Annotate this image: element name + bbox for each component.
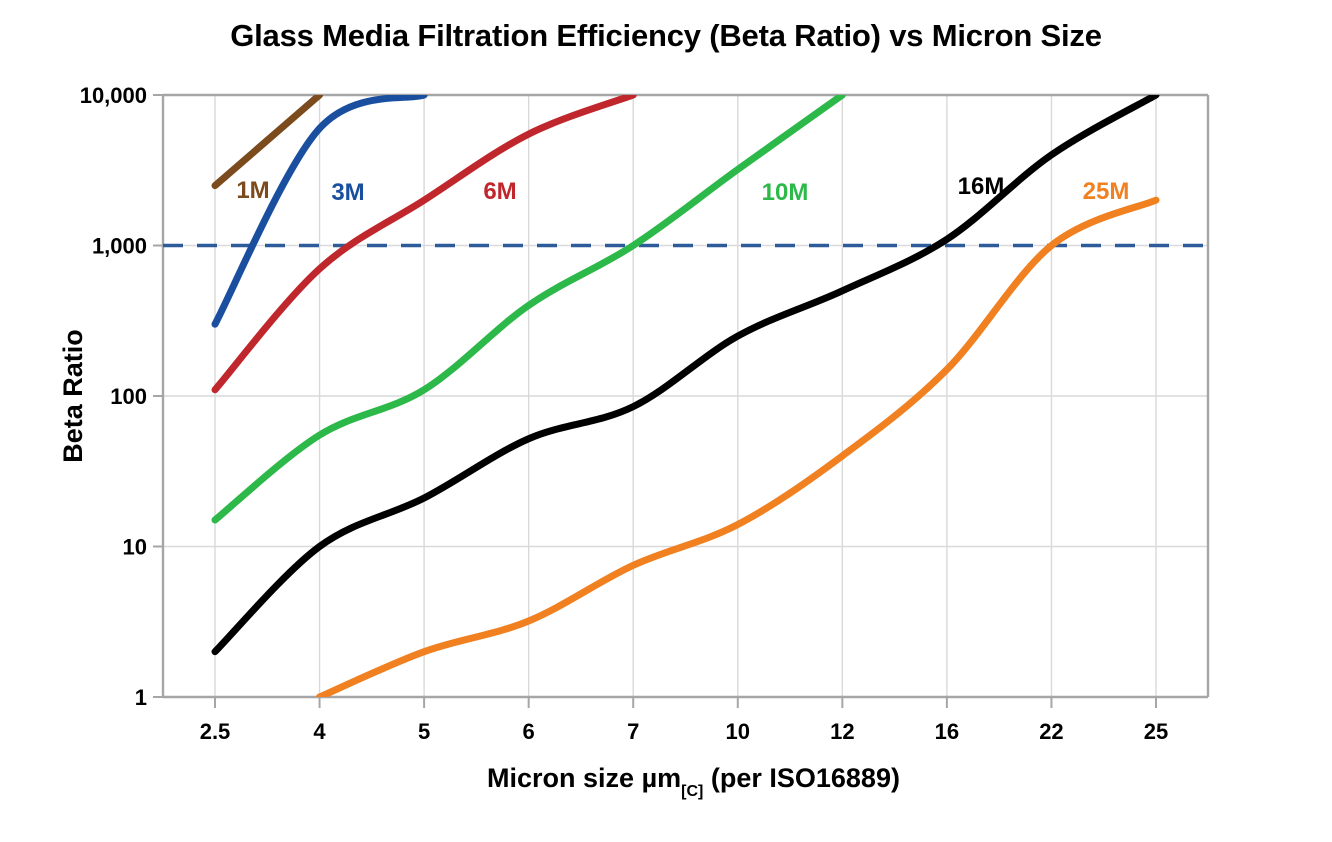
beta-ratio-line-chart: 1101001,00010,000 2.545671012162225 1M3M… [0,0,1332,842]
y-tick-label: 1,000 [92,234,147,259]
x-axis-ticks: 2.545671012162225 [200,697,1169,744]
series-label-3m: 3M [331,179,364,206]
x-axis-title: Micron size µm[C] (per ISO16889) [487,763,900,800]
y-tick-label: 1 [135,685,147,710]
axis-titles-group: Beta RatioMicron size µm[C] (per ISO1688… [58,329,900,800]
series-curve-1m [215,95,320,186]
x-tick-label: 5 [418,719,430,744]
series-label-25m: 25M [1083,178,1130,205]
y-axis-ticks: 1101001,00010,000 [80,83,163,710]
x-tick-label: 10 [726,719,750,744]
x-tick-label: 6 [523,719,535,744]
gridlines-group [163,95,1208,697]
x-tick-label: 16 [935,719,959,744]
x-tick-label: 22 [1039,719,1063,744]
y-tick-label: 10 [123,535,147,560]
x-tick-label: 25 [1144,719,1168,744]
x-axis-title-main: Micron size µm [487,763,681,793]
x-axis-title-subscript: [C] [681,783,703,800]
y-tick-label: 100 [110,384,147,409]
y-axis-title: Beta Ratio [58,329,88,463]
x-tick-label: 12 [830,719,854,744]
chart-page: Glass Media Filtration Efficiency (Beta … [0,0,1332,842]
y-tick-label: 10,000 [80,83,147,108]
series-label-6m: 6M [483,178,516,205]
series-label-1m: 1M [236,177,269,204]
x-tick-label: 4 [313,719,326,744]
x-axis-title-tail: (per ISO16889) [703,763,900,793]
x-tick-label: 7 [627,719,639,744]
series-label-16m: 16M [958,173,1005,200]
series-label-10m: 10M [762,179,809,206]
x-tick-label: 2.5 [200,719,231,744]
